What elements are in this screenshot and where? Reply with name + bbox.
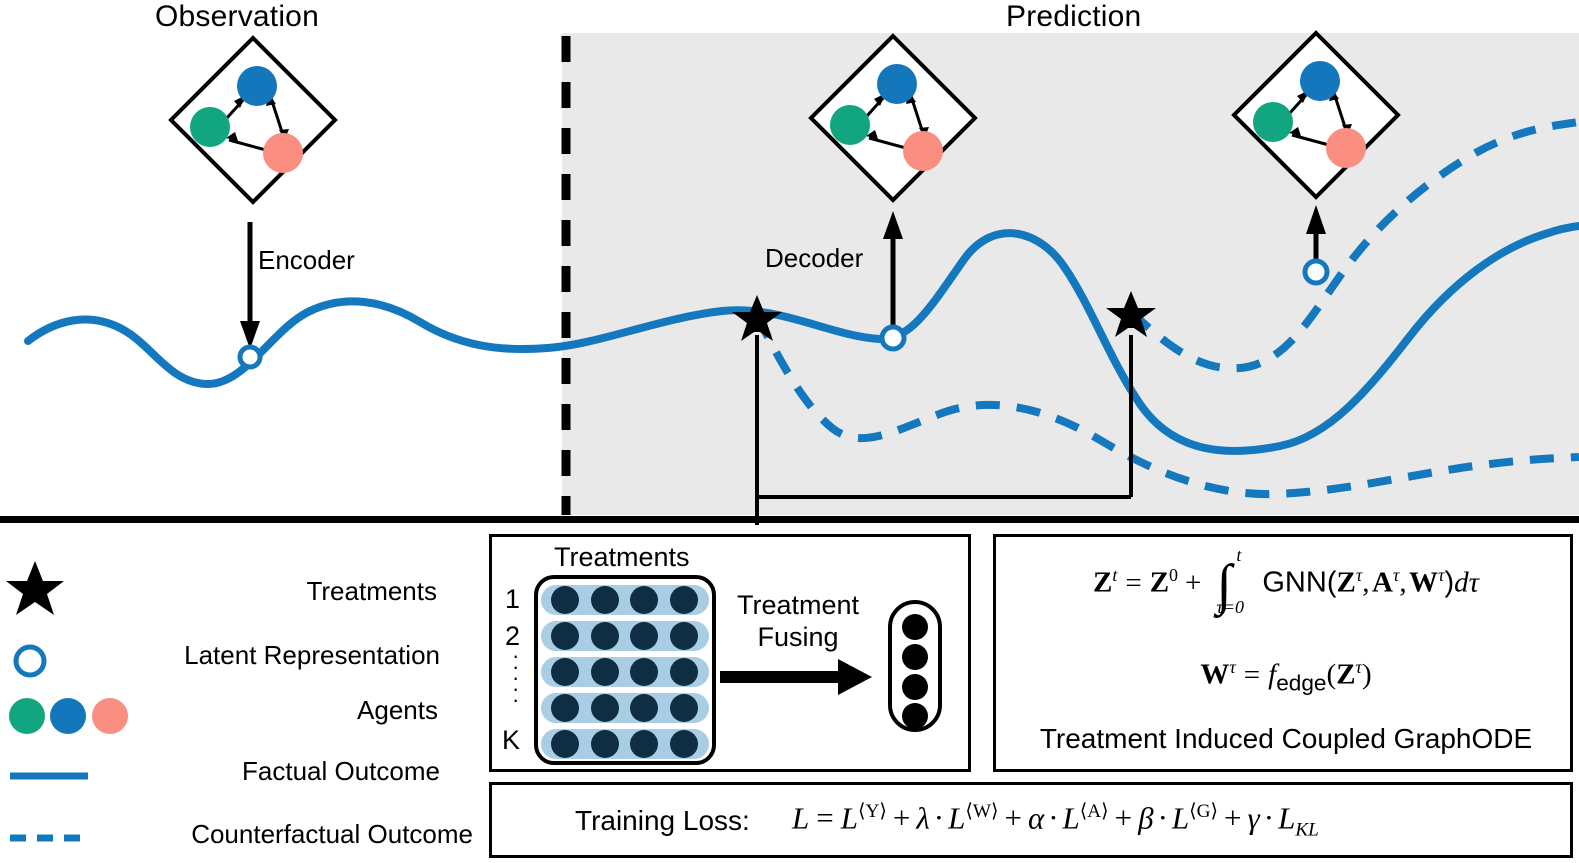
encoder-arrow <box>240 222 260 349</box>
decoder-label: Decoder <box>765 243 863 274</box>
loss-t2: L <box>948 800 965 835</box>
eq1-eq: = <box>1125 567 1141 599</box>
treatment-output-vector <box>887 599 943 734</box>
loss-eq: = <box>816 800 833 835</box>
agent-green-dot <box>9 698 45 734</box>
loss-p3: + <box>1115 800 1132 835</box>
loss-p1: + <box>893 800 910 835</box>
legend-label-agents: Agents <box>357 695 438 726</box>
page-title-prediction: Prediction <box>1006 0 1141 34</box>
ode-equation-2: Wτ=fedge(Zτ) <box>996 657 1576 696</box>
latent-observation <box>240 347 260 367</box>
treatment-row <box>541 621 709 651</box>
agent-salmon-dot <box>92 698 128 734</box>
treatment-row <box>541 693 709 723</box>
ode-panel-caption: Treatment Induced Coupled GraphODE <box>996 723 1576 755</box>
eq2-eq: = <box>1244 659 1260 691</box>
ode-equation-1: Zt=Z0+ ∫ t τ=0 GNN(Zτ, Aτ, Wτ)dτ <box>996 565 1576 600</box>
graph-observation <box>171 38 335 202</box>
treatment-fusing-line2: Fusing <box>728 621 868 653</box>
legend-label-treatments: Treatments <box>306 576 437 607</box>
latent-prediction-solid <box>882 327 904 349</box>
treatment-panel: Treatments 1 2 ····· K <box>489 534 971 772</box>
eq1-term0-sup: 0 <box>1169 565 1178 585</box>
ode-panel: Zt=Z0+ ∫ t τ=0 GNN(Zτ, Aτ, Wτ)dτ Wτ=fedg… <box>993 534 1573 772</box>
agent-salmon <box>903 131 943 171</box>
encoder-label: Encoder <box>258 245 355 276</box>
page-title-observation: Observation <box>155 0 319 34</box>
eq2-f: f <box>1268 659 1276 691</box>
loss-panel: Training Loss: L=L⟨Y⟩+λ·L⟨W⟩+α·L⟨A⟩+β·L⟨… <box>489 782 1573 858</box>
treatment-row-label-1: 1 <box>505 584 520 615</box>
agent-salmon <box>1326 128 1366 168</box>
loss-t5: L <box>1278 800 1295 835</box>
treatment-panel-title: Treatments <box>554 542 690 573</box>
agent-blue <box>877 64 917 104</box>
loss-t3: L <box>1063 800 1080 835</box>
loss-d1: · <box>934 800 944 835</box>
treatment-fusing-label: Treatment Fusing <box>728 589 868 653</box>
loss-L: L <box>792 800 809 835</box>
legend: Treatments Latent Representation Agents … <box>0 528 485 863</box>
loss-c1: λ <box>916 800 929 835</box>
loss-t1-sup: ⟨Y⟩ <box>858 801 887 822</box>
loss-c4: γ <box>1248 800 1260 835</box>
loss-t4: L <box>1172 800 1189 835</box>
loss-c3: β <box>1138 800 1153 835</box>
agent-salmon <box>263 133 303 173</box>
loss-p4: + <box>1224 800 1241 835</box>
eq2-close: ) <box>1362 659 1372 691</box>
eq2-lhs: W <box>1200 659 1229 691</box>
loss-t2-sup: ⟨W⟩ <box>965 801 998 822</box>
eq2-lhs-sup: τ <box>1229 657 1235 677</box>
loss-d4: · <box>1264 800 1274 835</box>
eq1-arg2: A <box>1372 567 1393 599</box>
eq1-arg1: Z <box>1336 567 1355 599</box>
latent-prediction-dashed <box>1305 261 1327 283</box>
loss-d2: · <box>1048 800 1058 835</box>
eq1-close: ) <box>1444 567 1454 599</box>
eq1-lhs-sup: t <box>1112 565 1117 585</box>
loss-c2: α <box>1028 800 1044 835</box>
agent-blue <box>237 66 277 106</box>
eq2-open: ( <box>1327 659 1337 691</box>
loss-t3-sup: ⟨A⟩ <box>1080 801 1109 822</box>
eq1-arg3: W <box>1409 567 1438 599</box>
treatment-row-label-dots: ····· <box>512 650 519 705</box>
treatment-matrix <box>534 575 716 765</box>
eq1-lhs: Z <box>1093 567 1112 599</box>
treatment-row <box>541 729 709 759</box>
agent-green <box>1253 102 1293 142</box>
agent-dots-icon-row <box>9 698 128 734</box>
legend-label-counterfactual-outcome: Counterfactual Outcome <box>191 819 473 850</box>
eq1-fn: GNN( <box>1262 567 1336 599</box>
eq2-f-sub: edge <box>1276 670 1326 695</box>
loss-equation: L=L⟨Y⟩+λ·L⟨W⟩+α·L⟨A⟩+β·L⟨G⟩+γ·LKL <box>792 799 1319 842</box>
treatment-fusing-line1: Treatment <box>728 589 868 621</box>
eq2-arg: Z <box>1336 659 1355 691</box>
loss-label: Training Loss: <box>575 805 750 837</box>
treatment-row <box>541 657 709 687</box>
treatment-row-label-K: K <box>502 725 520 756</box>
agent-blue <box>1300 61 1340 101</box>
treatment-fusing-arrow <box>720 657 880 697</box>
agent-green <box>830 105 870 145</box>
legend-label-latent-representation: Latent Representation <box>184 640 440 671</box>
loss-t5-sub: KL <box>1295 820 1319 841</box>
agent-blue-dot <box>50 698 86 734</box>
figure-root: Observation Prediction Encoder Decoder <box>0 0 1579 863</box>
loss-d3: · <box>1158 800 1168 835</box>
loss-t4-sup: ⟨G⟩ <box>1189 801 1218 822</box>
eq1-term0: Z <box>1150 567 1169 599</box>
eq1-plus: + <box>1185 567 1201 599</box>
section-divider <box>0 516 1579 523</box>
eq1-int-upper: t <box>1236 545 1241 566</box>
legend-label-factual-outcome: Factual Outcome <box>242 756 440 787</box>
treatment-row <box>541 585 709 615</box>
open-circle-icon <box>16 647 44 675</box>
eq1-int-lower: τ=0 <box>1216 597 1244 618</box>
loss-p2: + <box>1004 800 1021 835</box>
loss-t1: L <box>841 800 858 835</box>
agent-green <box>190 107 230 147</box>
star-icon <box>6 561 64 615</box>
eq1-dtau: dτ <box>1454 567 1479 599</box>
